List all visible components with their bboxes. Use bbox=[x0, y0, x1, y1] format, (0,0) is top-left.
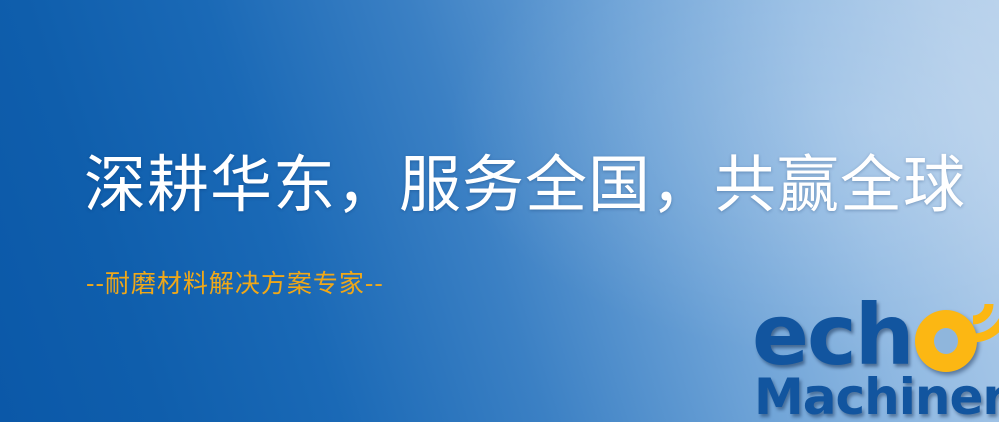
logo-text-machinery: Machinery bbox=[754, 368, 999, 422]
logo-wordmark: ech bbox=[752, 296, 977, 374]
signal-waves-icon bbox=[965, 288, 999, 346]
banner-headline: 深耕华东，服务全国，共赢全球 bbox=[84, 150, 966, 219]
banner-subheadline: --耐磨材料解决方案专家-- bbox=[86, 264, 384, 300]
hero-banner: 深耕华东，服务全国，共赢全球 --耐磨材料解决方案专家-- ech Machin… bbox=[0, 0, 999, 422]
logo-letter-o bbox=[915, 310, 977, 372]
company-logo[interactable]: ech Machinery® bbox=[752, 296, 999, 422]
logo-subtext: Machinery® bbox=[754, 368, 999, 422]
